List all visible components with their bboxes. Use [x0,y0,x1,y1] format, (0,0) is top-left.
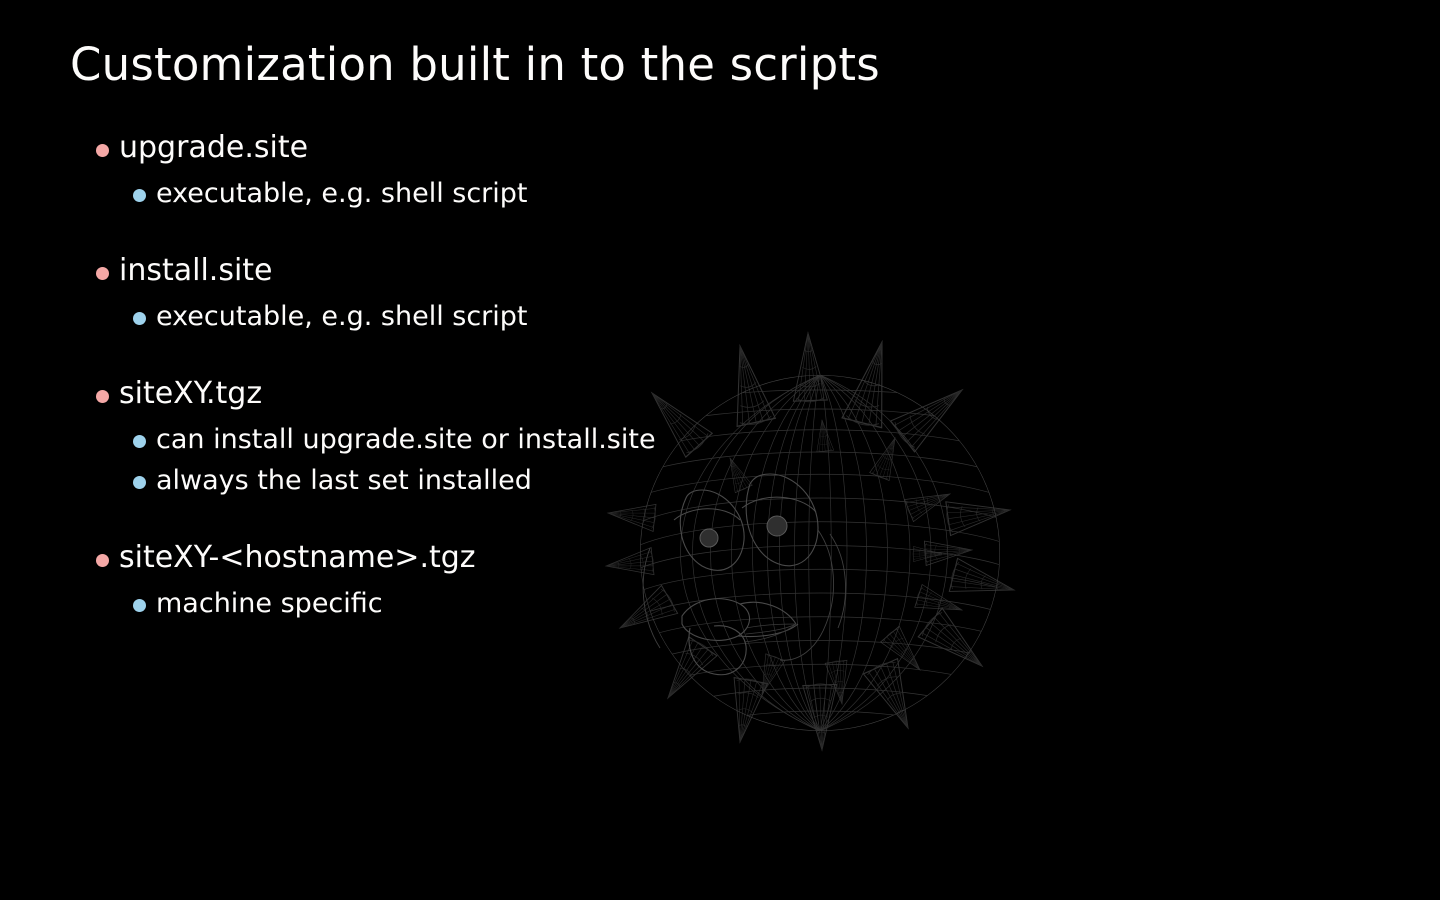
outline-level1-item: siteXY-<hostname>.tgz [0,540,1000,586]
outline-group: upgrade.site executable, e.g. shell scri… [0,130,1000,217]
level1-bullet-icon [96,267,109,280]
presentation-slide: Customization built in to the scripts up… [0,0,1440,900]
outline-group: siteXY.tgz can install upgrade.site or i… [0,376,1000,504]
outline-level2-item: machine specific [0,586,1000,627]
outline-level1-item: install.site [0,253,1000,299]
level2-bullet-icon [133,312,146,325]
outline-level2-label: can install upgrade.site or install.site [156,422,656,453]
outline-level2-item: executable, e.g. shell script [0,299,1000,340]
slide-title: Customization built in to the scripts [70,38,880,91]
slide-body-outline: upgrade.site executable, e.g. shell scri… [0,130,1000,627]
outline-level2-label: executable, e.g. shell script [156,176,528,207]
level1-bullet-icon [96,144,109,157]
level2-bullet-icon [133,435,146,448]
outline-level2-item: can install upgrade.site or install.site [0,422,1000,463]
outline-level2-label: executable, e.g. shell script [156,299,528,330]
outline-level1-item: upgrade.site [0,130,1000,176]
outline-level2-item: executable, e.g. shell script [0,176,1000,217]
level2-bullet-icon [133,599,146,612]
level2-bullet-icon [133,476,146,489]
outline-level2-label: machine specific [156,586,383,617]
outline-level1-label: upgrade.site [119,130,308,163]
level2-bullet-icon [133,189,146,202]
level1-bullet-icon [96,554,109,567]
outline-level2-label: always the last set installed [156,463,532,494]
outline-level1-label: siteXY.tgz [119,376,262,409]
level1-bullet-icon [96,390,109,403]
outline-group: install.site executable, e.g. shell scri… [0,253,1000,340]
outline-level1-label: install.site [119,253,273,286]
outline-level2-item: always the last set installed [0,463,1000,504]
outline-level1-item: siteXY.tgz [0,376,1000,422]
outline-level1-label: siteXY-<hostname>.tgz [119,540,476,573]
outline-group: siteXY-<hostname>.tgz machine specific [0,540,1000,627]
